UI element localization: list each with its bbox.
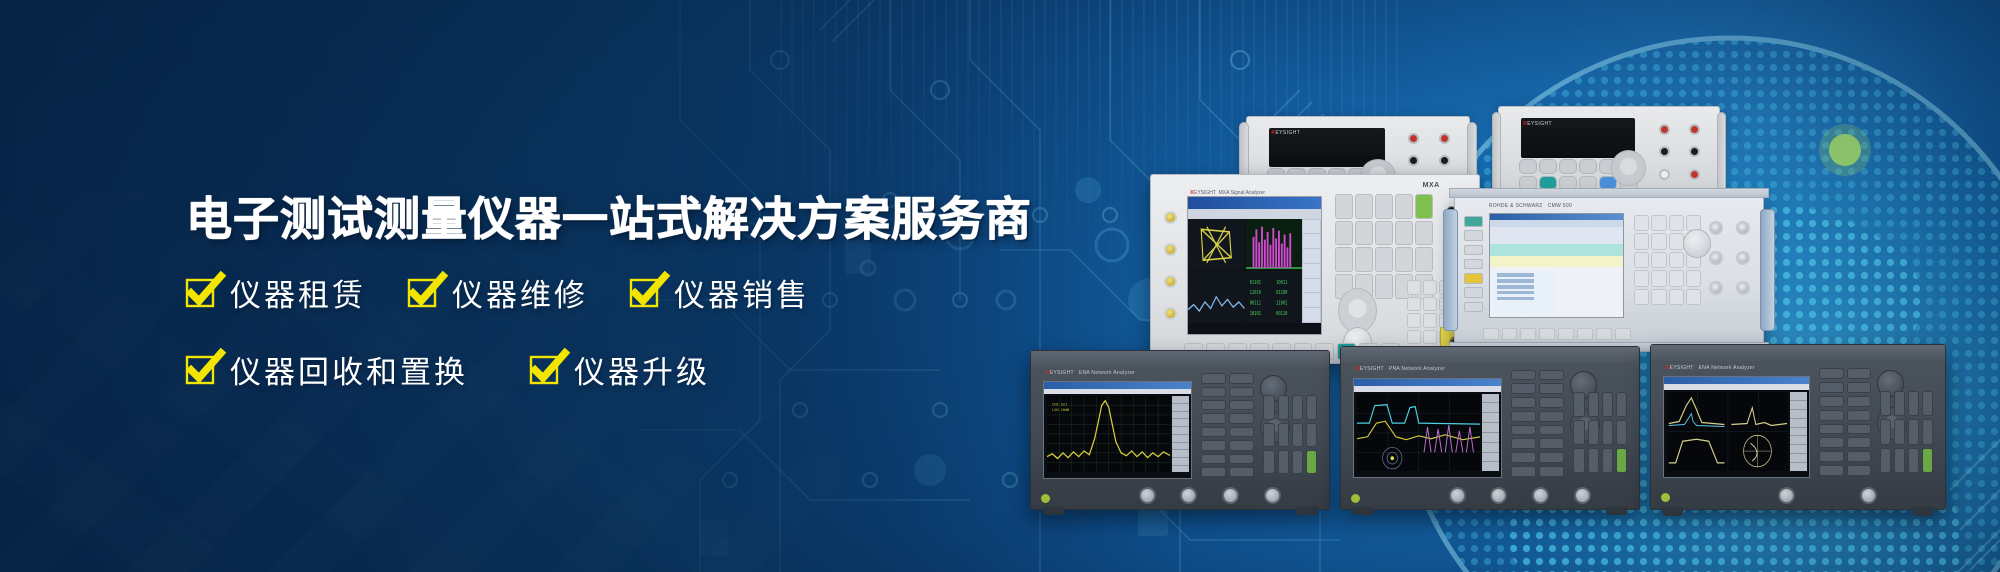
feature-label: 仪器租赁 (230, 270, 366, 315)
hero-banner: KEYSIGHT KEYSIGHT (0, 0, 2000, 572)
feature-list: 仪器租赁 仪器维修 (186, 270, 1086, 392)
foot-left (1353, 507, 1374, 515)
function-keys (1819, 368, 1872, 476)
brand-label: ROHDE & SCHWARZ CMW 500 (1489, 203, 1572, 209)
feature-row-1: 仪器租赁 仪器维修 (186, 270, 1086, 315)
display-panes: 0110111010 0011110101 1001101100 1100100… (1188, 219, 1302, 323)
feature-row-2: 仪器回收和置换 仪器升级 (186, 347, 1086, 392)
power-led (1041, 494, 1050, 503)
constellation-pane (1188, 219, 1244, 271)
bottom-softkeys (1483, 328, 1631, 340)
top-bezel (1341, 347, 1639, 363)
display-screen: 0110111010 0011110101 1001101100 1100100… (1187, 196, 1321, 335)
navigation-pad (1611, 150, 1646, 186)
rf-connector-grid (1705, 216, 1754, 301)
instrument-network-analyzer-right: KEYSIGHT ENA Network Analyzer (1650, 344, 1946, 510)
model-label: MXA (1423, 182, 1440, 189)
feature-item-rental[interactable]: 仪器租赁 (186, 270, 366, 315)
checkbox-checked-icon (408, 278, 438, 308)
checkbox-checked-icon (186, 278, 216, 308)
instrument-signal-analyzer: KEYSIGHT MXA Signal Analyzer MXA (1150, 174, 1480, 364)
feature-item-sales[interactable]: 仪器销售 (630, 270, 810, 315)
display-screen (1663, 376, 1810, 478)
symbol-pane: 0110111010 0011110101 1001101100 1100100… (1246, 271, 1302, 323)
keypad (1634, 215, 1702, 306)
svg-text:00110: 00110 (1276, 311, 1288, 318)
trace-plot (1357, 394, 1480, 472)
handle-right (1717, 112, 1726, 191)
brand-label: KEYSIGHT (1523, 121, 1552, 127)
svg-text:10011: 10011 (1276, 280, 1288, 287)
page-title: 电子测试测量仪器一站式解决方案服务商 (186, 196, 1086, 242)
svg-text:11001: 11001 (1276, 300, 1288, 307)
instrument-radio-tester: ROHDE & SCHWARZ CMW 500 (1454, 196, 1764, 344)
tree-panel (1493, 271, 1554, 314)
brand-label: KEYSIGHT (1271, 130, 1300, 136)
handle-left (1492, 112, 1501, 191)
checkbox-checked-icon (630, 278, 660, 308)
checkbox-checked-icon (530, 355, 560, 385)
spectrum-pane (1246, 219, 1302, 271)
trace-plot (1667, 392, 1789, 471)
instrument-network-analyzer-mid: KEYSIGHT PNA Network Analyzer (1340, 346, 1640, 510)
numeric-keypad (1263, 395, 1317, 474)
foot-right (1296, 507, 1317, 515)
side-keys (1464, 216, 1482, 312)
feature-label: 仪器升级 (574, 347, 710, 392)
checkbox-checked-icon (186, 355, 216, 385)
test-ports (1745, 484, 1910, 505)
foot-left (1043, 507, 1064, 515)
instrument-cluster: KEYSIGHT KEYSIGHT (1030, 96, 2000, 516)
rf-ports (1158, 201, 1184, 329)
top-brand-bar: KEYSIGHT MXA Signal Analyzer (1190, 181, 1439, 194)
svg-text:LOG 10dB: LOG 10dB (1052, 408, 1070, 412)
brand-label: KEYSIGHT PNA Network Analyzer (1356, 366, 1445, 372)
foot-right (1913, 507, 1934, 515)
softkey-column (1302, 219, 1321, 323)
feature-label: 仪器回收和置换 (230, 347, 468, 392)
banner-content: 电子测试测量仪器一站式解决方案服务商 仪器租赁 (186, 196, 1086, 392)
feature-item-repair[interactable]: 仪器维修 (408, 270, 588, 315)
brand-label: KEYSIGHT ENA Network Analyzer (1666, 365, 1755, 371)
svg-text:10101: 10101 (1249, 311, 1261, 318)
function-keys (1511, 370, 1565, 477)
input-jacks (1651, 120, 1708, 185)
svg-text:01101: 01101 (1249, 280, 1261, 287)
display-screen (1353, 378, 1502, 478)
svg-text:CH1 S21: CH1 S21 (1052, 403, 1067, 407)
trace-plot: CH1 S21LOG 10dB (1047, 396, 1170, 472)
function-keys (1201, 373, 1255, 477)
foot-left (1663, 507, 1684, 515)
feature-item-upgrade[interactable]: 仪器升级 (530, 347, 710, 392)
softkey-column (1482, 394, 1500, 472)
numeric-keypad (1573, 392, 1627, 473)
display-screen (1489, 213, 1625, 318)
display-screen: CH1 S21LOG 10dB (1043, 381, 1192, 479)
test-ports (1126, 485, 1293, 506)
foot-right (1606, 507, 1627, 515)
power-led (1351, 494, 1360, 503)
rack-top (1449, 188, 1769, 198)
feature-item-recycle-exchange[interactable]: 仪器回收和置换 (186, 347, 468, 392)
feature-label: 仪器销售 (674, 270, 810, 315)
test-ports (1436, 485, 1603, 506)
instrument-dmm-right: KEYSIGHT (1498, 106, 1720, 198)
handle-right (1760, 209, 1775, 332)
navigation-pad (1338, 288, 1377, 333)
softkey-column (1790, 392, 1807, 471)
handle-left (1443, 209, 1458, 332)
top-bezel (1651, 345, 1945, 361)
svg-text:11010: 11010 (1249, 290, 1261, 297)
svg-text:01100: 01100 (1276, 290, 1288, 297)
trace-pane (1188, 271, 1244, 323)
softkey-column (1172, 396, 1190, 472)
power-led (1661, 493, 1670, 502)
feature-label: 仪器维修 (452, 270, 588, 315)
numeric-keypad (1880, 391, 1933, 473)
svg-text:00111: 00111 (1249, 300, 1261, 307)
